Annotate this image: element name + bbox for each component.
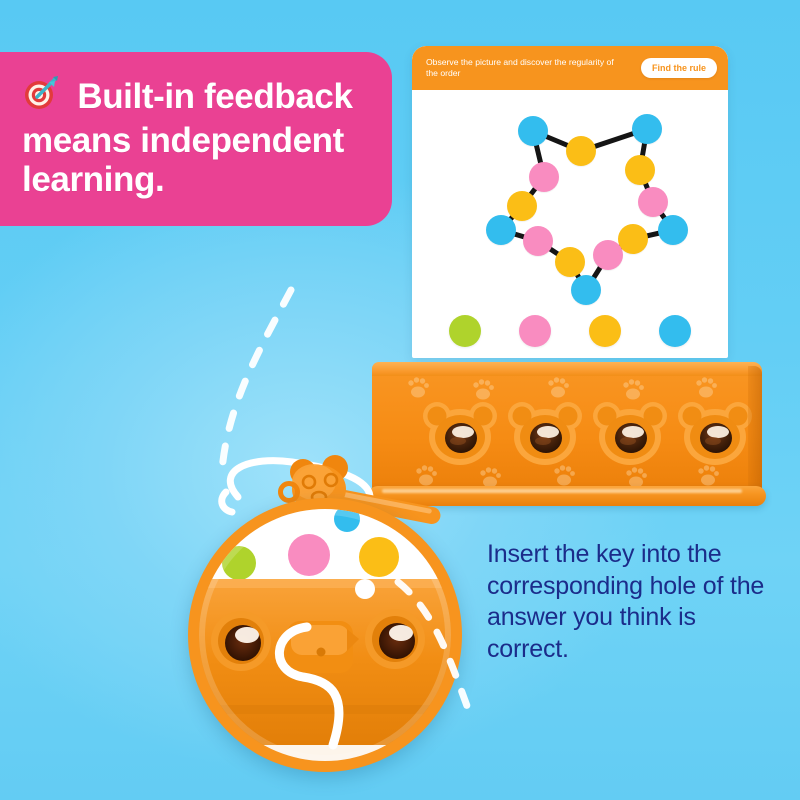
magnifier-content <box>199 509 451 761</box>
puzzle-dot-blue <box>518 116 548 146</box>
feature-banner: Built-in feedback means independent lear… <box>0 52 392 226</box>
find-the-rule-badge: Find the rule <box>641 58 717 78</box>
base-foot-highlight <box>382 489 742 493</box>
toy-base <box>368 356 772 520</box>
answer-options-row <box>412 304 728 358</box>
banner-headline: Built-in feedback means independent lear… <box>22 77 353 199</box>
card-header: Observe the picture and discover the reg… <box>412 46 728 90</box>
puzzle-dot-yellow <box>507 191 537 221</box>
base-right-edge <box>748 366 762 494</box>
puzzle-dot-pink <box>529 162 559 192</box>
magnified-hole-left <box>211 611 271 671</box>
card-header-text: Observe the picture and discover the reg… <box>426 57 616 80</box>
answer-option-pink[interactable] <box>519 315 551 347</box>
puzzle-dot-pink <box>638 187 668 217</box>
answer-option-blue[interactable] <box>659 315 691 347</box>
bear-hole-3[interactable] <box>593 402 667 465</box>
magnifier-inset <box>188 498 462 772</box>
banner-text-block: Built-in feedback means independent lear… <box>22 74 366 200</box>
answer-option-green[interactable] <box>449 315 481 347</box>
puzzle-dot-blue <box>658 215 688 245</box>
instruction-text: Insert the key into the corresponding ho… <box>487 539 772 665</box>
puzzle-card: Observe the picture and discover the reg… <box>412 46 728 358</box>
puzzle-dot-yellow <box>566 136 596 166</box>
puzzle-dot-yellow <box>555 247 585 277</box>
puzzle-dot-yellow <box>618 224 648 254</box>
answer-option-yellow[interactable] <box>589 315 621 347</box>
puzzle-dot-pink <box>593 240 623 270</box>
puzzle-dot-blue <box>571 275 601 305</box>
puzzle-dot-blue <box>486 215 516 245</box>
dart-target-icon <box>22 74 60 121</box>
magnified-hole-right <box>365 609 425 669</box>
puzzle-dot-pink <box>523 226 553 256</box>
puzzle-dot-blue <box>632 114 662 144</box>
bear-hole-1[interactable] <box>423 402 497 465</box>
bear-hole-4[interactable] <box>678 402 752 465</box>
bear-hole-2[interactable] <box>508 402 582 465</box>
puzzle-dot-yellow <box>625 155 655 185</box>
puzzle-dot-pattern <box>412 90 728 302</box>
product-marketing-graphic: Built-in feedback means independent lear… <box>0 0 800 800</box>
